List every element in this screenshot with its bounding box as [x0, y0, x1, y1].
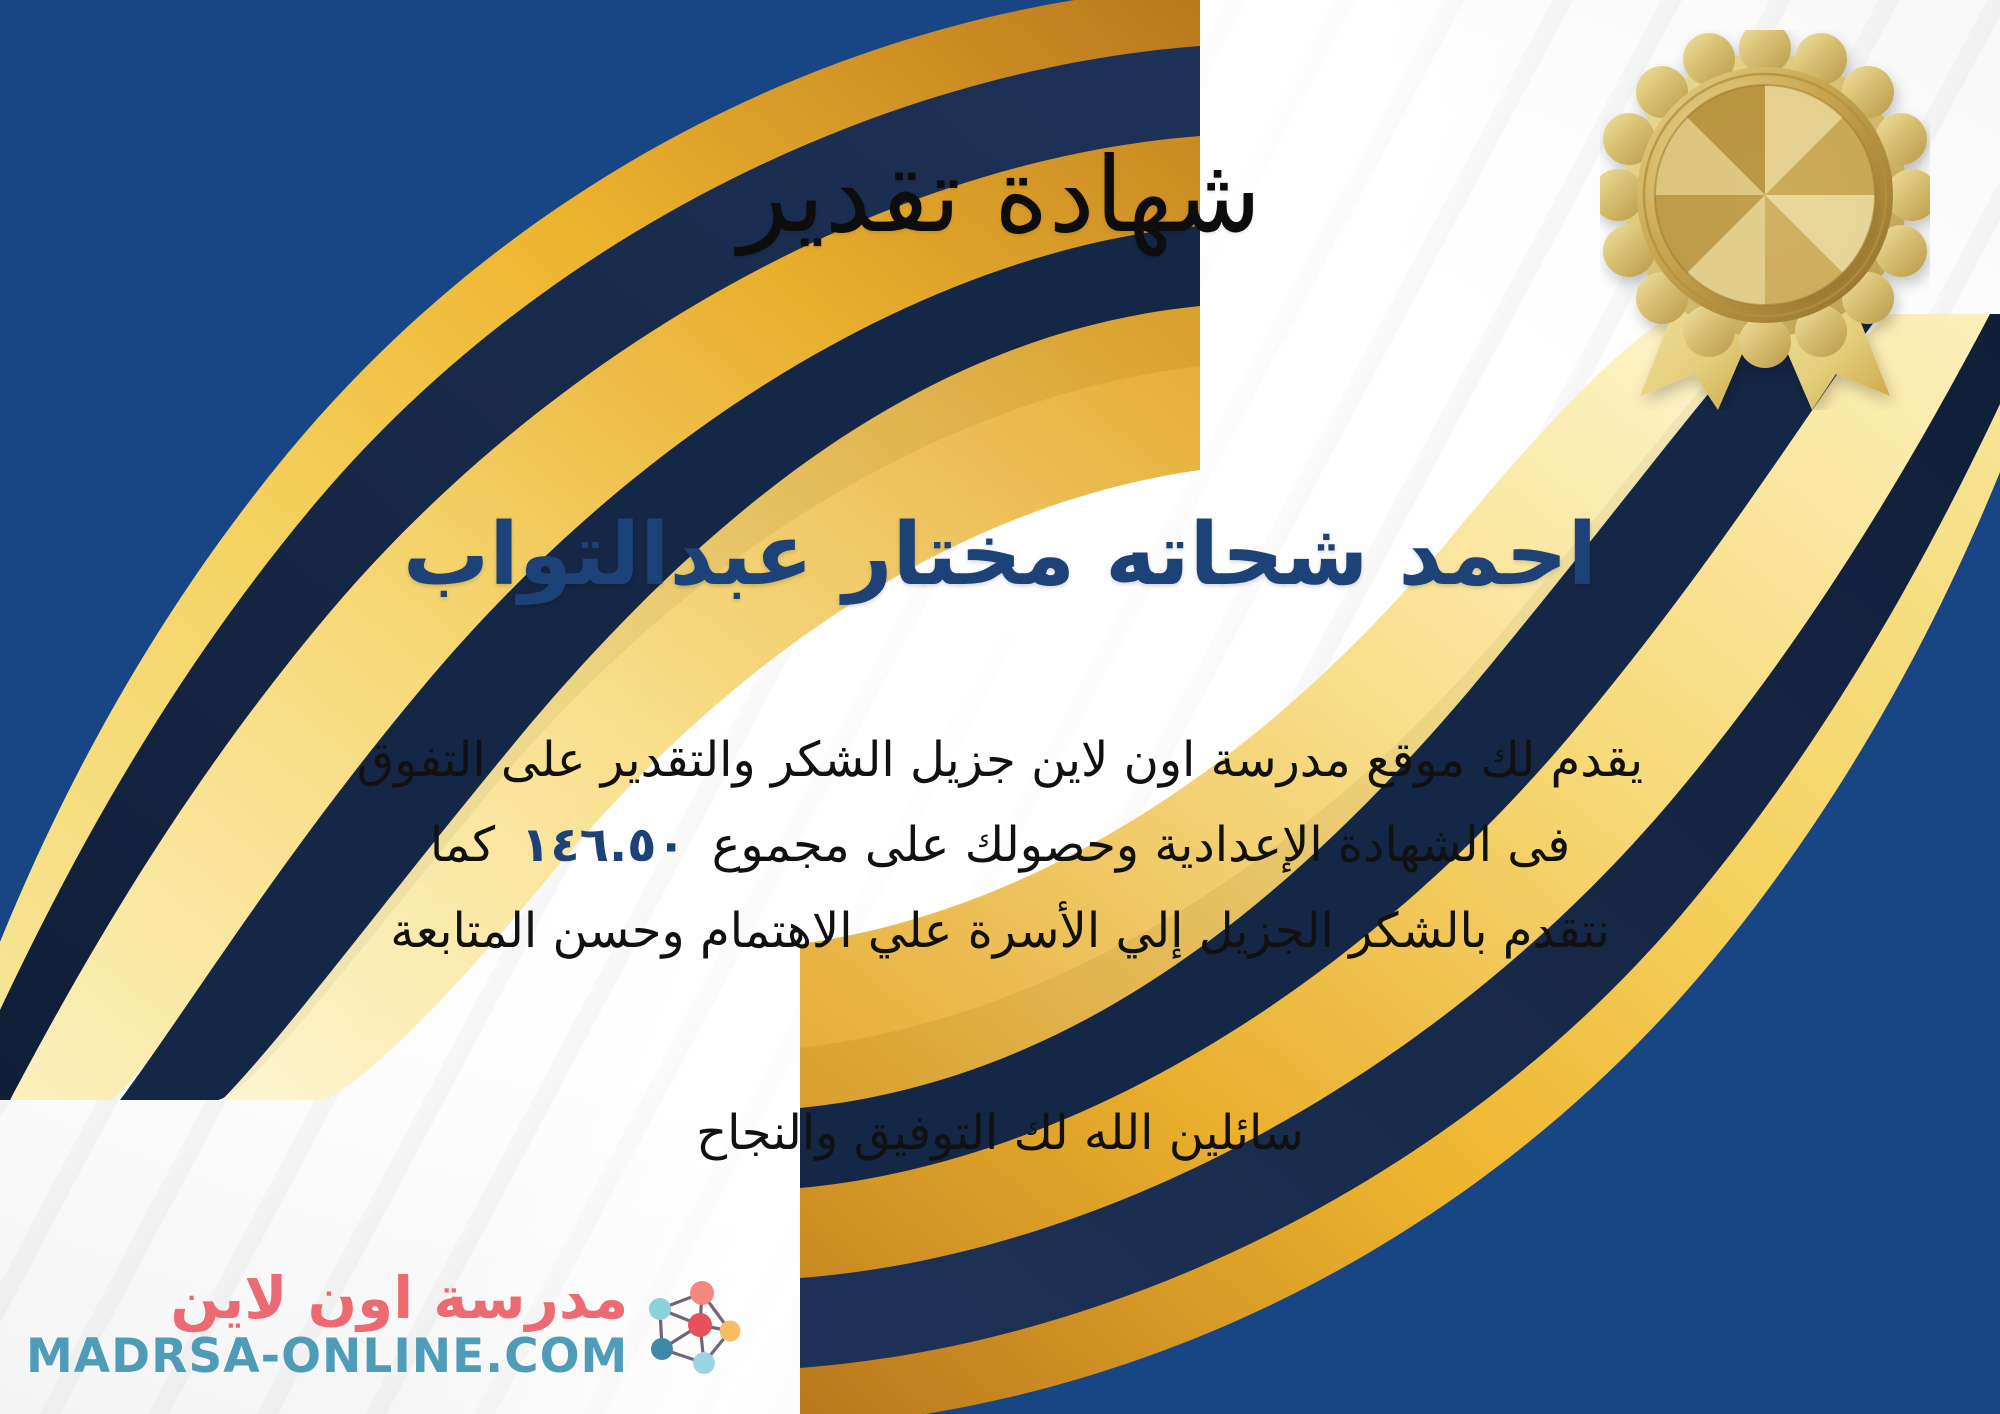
recipient-name: احمد شحاته مختار عبدالتواب [0, 500, 2000, 612]
network-nodes-icon [642, 1273, 746, 1377]
brand-text: مدرسة اون لاين MADRSA-ONLINE.COM [26, 1269, 628, 1380]
brand-url: MADRSA-ONLINE.COM [26, 1333, 628, 1380]
brand-logo[interactable]: مدرسة اون لاين MADRSA-ONLINE.COM [26, 1269, 746, 1380]
body-line-2: فى الشهادة الإعدادية وحصولك على مجموع١٤٦… [40, 803, 1960, 888]
certificate-body: يقدم لك موقع مدرسة اون لاين جزيل الشكر و… [40, 718, 1960, 974]
certificate-canvas: شهادة تقدير احمد شحاته مختار عبدالتواب ي… [0, 0, 2000, 1414]
certificate-content: شهادة تقدير احمد شحاته مختار عبدالتواب ي… [0, 0, 2000, 1414]
body-line-1: يقدم لك موقع مدرسة اون لاين جزيل الشكر و… [40, 718, 1960, 803]
brand-name-arabic: مدرسة اون لاين [26, 1269, 628, 1327]
body-line-2-right: فى الشهادة الإعدادية وحصولك على مجموع [712, 817, 1570, 873]
certificate-title: شهادة تقدير [0, 130, 2000, 260]
closing-line: سائلين الله لك التوفيق والنجاح [0, 1095, 2000, 1172]
body-line-2-left: كما [430, 817, 495, 873]
body-line-3: نتقدم بالشكر الجزيل إلي الأسرة علي الاهت… [40, 889, 1960, 974]
total-score-value: ١٤٦.٥٠ [495, 817, 712, 873]
